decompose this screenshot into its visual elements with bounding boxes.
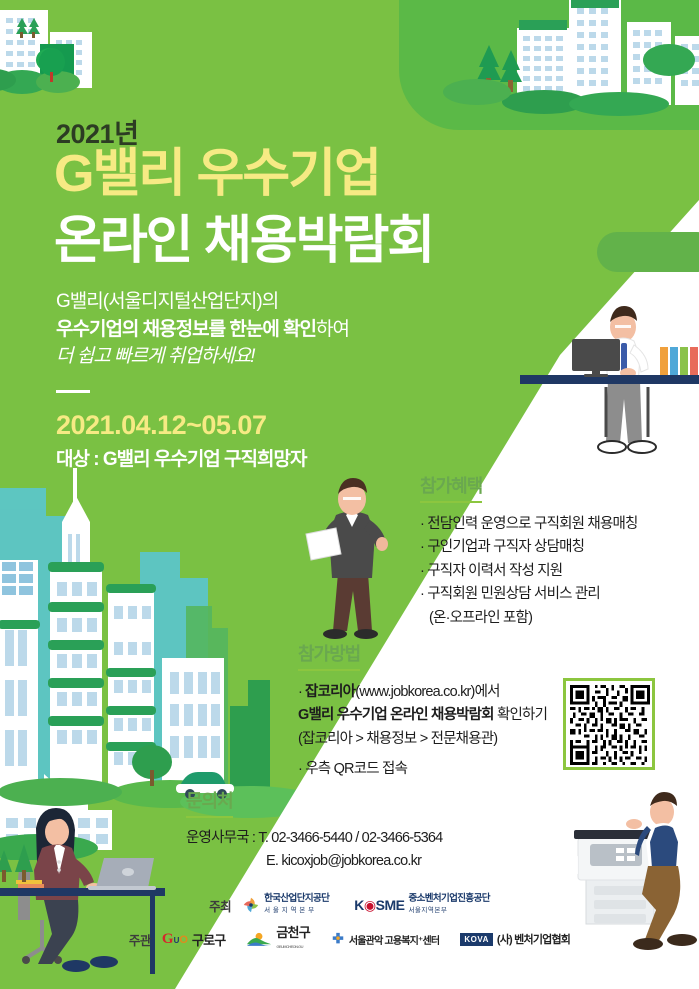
kicox-name: 한국산업단지공단 서 울 지 역 본 부 [264,894,329,916]
footer-organizer-row: 주관 GUO 구로구 금천구 GEUMCHEON-GU [0,922,699,956]
event-date-range: 2021.04.12~05.07 [56,410,266,441]
cityscape-top-left-illustration [0,0,300,115]
footer-logos: 주최 한국산업단지공단 서 울 지 역 본 부 K◉SME 중소벤처기업진흥공 [0,888,699,956]
kosme-name-main: 중소벤처기업진흥공단 [408,893,489,904]
qr-code[interactable] [563,678,655,770]
poster-title-line1: G밸리 우수기업 [54,148,380,200]
kova-mark-icon: KOVA [460,933,493,946]
list-item: G밸리 우수기업 온라인 채용박람회 확인하기 [298,704,547,727]
geumcheon-name-sub: GEUMCHEON-GU [276,944,303,949]
footer-host-row: 주최 한국산업단지공단 서 울 지 역 본 부 K◉SME 중소벤처기업진흥공 [0,888,699,922]
subtitle-line-2-tail: 하여 [316,319,349,340]
contact-heading: 문의처 [186,787,233,818]
benefits-heading: 참가혜택 [420,472,482,503]
list-item: · 전담인력 운영으로 구직회원 채용매칭 [420,513,638,536]
guro-mark-icon: GUO [162,930,188,948]
geumcheon-mark-icon [246,930,272,948]
geumcheon-name: 금천구 GEUMCHEON-GU [276,926,309,952]
list-item: · 구직자 이력서 작성 지원 [420,560,638,583]
logo-guro: GUO 구로구 [162,930,226,949]
method-heading: 참가방법 [298,640,360,671]
jobkorea-url: (www.jobkorea.co.kr)에서 [355,684,499,700]
title-divider [56,390,90,393]
logo-geumcheon: 금천구 GEUMCHEON-GU [246,926,309,952]
logo-kicox: 한국산업단지공단 서 울 지 역 본 부 [242,894,329,916]
subtitle-line-3: 더 쉽고 빠르게 취업하세요! [56,343,476,371]
list-item: (온·오프라인 포함) [420,607,638,630]
benefits-list: · 전담인력 운영으로 구직회원 채용매칭 · 구인기업과 구직자 상담매칭 ·… [420,513,638,630]
poster-subtitle: G밸리(서울디지털산업단지)의 우수기업의 채용정보를 한눈에 확인하여 더 쉽… [56,288,476,371]
event-target: 대상 : G밸리 우수기업 구직희망자 [56,444,306,471]
kicox-name-sub: 서 울 지 역 본 부 [264,907,314,914]
organizer-label: 주관 [129,930,151,949]
gwanak-cross-icon [331,932,345,946]
kicox-name-main: 한국산업단지공단 [264,893,329,904]
subtitle-line-1: G밸리(서울디지털산업단지)의 [56,288,476,316]
list-item: · 우측 QR코드 접속 [298,758,547,781]
list-item: · 구직회원 민원상담 서비스 관리 [420,583,638,606]
method-section: 참가방법 ·잡코리아(www.jobkorea.co.kr)에서 G밸리 우수기… [298,640,547,782]
fair-name-tail: 확인하기 [494,707,547,723]
man-at-desk-illustration [520,295,699,470]
kicox-mark-icon [242,896,260,914]
jobkorea-label: 잡코리아 [305,684,355,700]
kosme-o-glyph: ◉ [364,897,376,913]
logo-kosme: K◉SME 중소벤처기업진흥공단 서울지역본부 [354,894,490,916]
list-item: (잡코리아 > 채용정보 > 전문채용관) [298,728,547,751]
bullet-dot: · [298,684,302,700]
qr-code-image [570,685,650,765]
host-label: 주최 [209,896,231,915]
kosme-name: 중소벤처기업진흥공단 서울지역본부 [408,894,489,916]
contact-list: 운영사무국 : T. 02-3466-5440 / 02-3466-5364 E… [186,827,442,874]
method-list: ·잡코리아(www.jobkorea.co.kr)에서 G밸리 우수기업 온라인… [298,681,547,782]
presenter-man-illustration [288,468,418,658]
subtitle-line-2: 우수기업의 채용정보를 한눈에 확인하여 [56,316,476,344]
gwanak-center-name: 서울관악 고용복지⁺센터 [349,932,439,947]
contact-section: 문의처 운영사무국 : T. 02-3466-5440 / 02-3466-53… [186,787,442,874]
guro-name: 구로구 [192,930,225,949]
kova-name: (사) 벤처기업협회 [497,931,570,947]
poster-root: 2021년 G밸리 우수기업 온라인 채용박람회 G밸리(서울디지털산업단지)의… [0,0,699,989]
list-item: · 구인기업과 구직자 상담매칭 [420,536,638,559]
fair-name: G밸리 우수기업 온라인 채용박람회 [298,707,494,723]
logo-kova: KOVA (사) 벤처기업협회 [460,931,570,947]
benefits-section: 참가혜택 · 전담인력 운영으로 구직회원 채용매칭 · 구인기업과 구직자 상… [420,472,638,630]
subtitle-line-2-bold: 우수기업의 채용정보를 한눈에 확인 [56,319,316,340]
contact-email: E. kicoxjob@jobkorea.co.kr [186,850,442,873]
kosme-wordmark: K◉SME [354,897,404,914]
cityscape-top-right-illustration [369,0,699,180]
geumcheon-name-main: 금천구 [276,925,309,940]
poster-title-line2: 온라인 채용박람회 [54,215,433,267]
logo-gwanak-center: 서울관악 고용복지⁺센터 [331,932,439,947]
green-accent-pill [597,232,699,272]
contact-phone: 운영사무국 : T. 02-3466-5440 / 02-3466-5364 [186,827,442,850]
kosme-name-sub: 서울지역본부 [408,907,447,914]
list-item: ·잡코리아(www.jobkorea.co.kr)에서 [298,681,547,704]
